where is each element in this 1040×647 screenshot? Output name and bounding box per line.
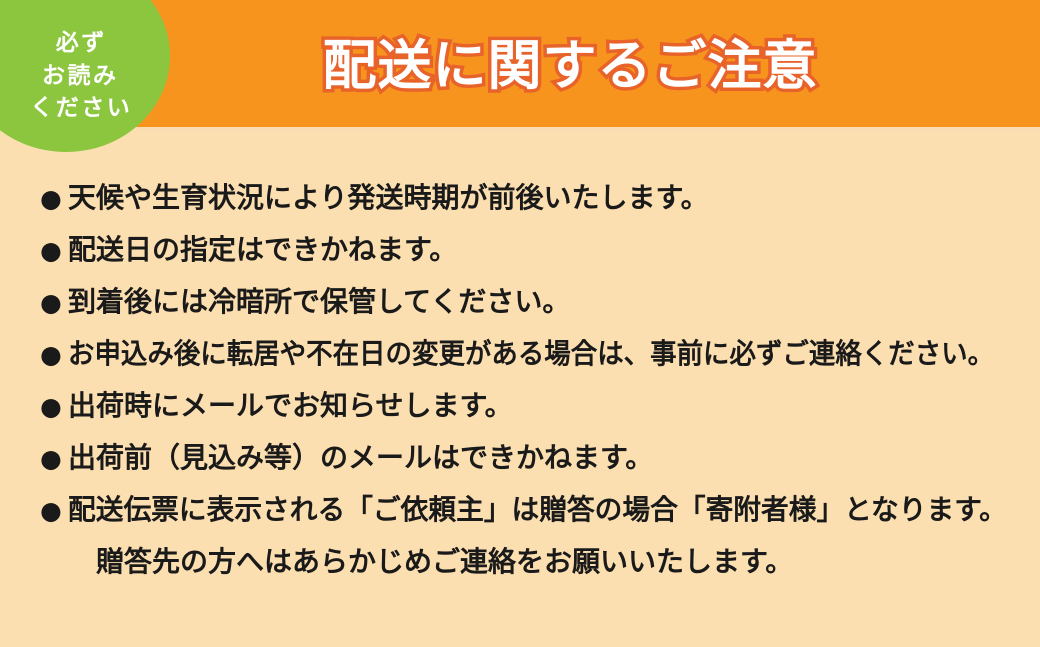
- badge-line-1: 必ず: [53, 27, 107, 60]
- bullet-icon: ●: [40, 225, 68, 277]
- notice-item: ●天候や生育状況により発送時期が前後いたします。: [40, 172, 1020, 224]
- bullet-icon: ●: [40, 173, 68, 225]
- bullet-icon: ●: [40, 381, 68, 433]
- notice-text: 配送日の指定はできかねます。: [68, 224, 457, 276]
- notice-item: ●お申込み後に転居や不在日の変更がある場合は、事前に必ずご連絡ください。: [40, 328, 1020, 380]
- notice-item: ●配送伝票に表示される「ご依頼主」は贈答の場合「寄附者様」となります。: [40, 484, 1020, 536]
- notice-item: ●到着後には冷暗所で保管してください。: [40, 276, 1020, 328]
- shipping-notice-banner: 配送に関するご注意 必ず お読み ください ●天候や生育状況により発送時期が前後…: [0, 0, 1040, 647]
- notice-item: ●配送日の指定はできかねます。: [40, 224, 1020, 276]
- notice-item: 贈答先の方へはあらかじめご連絡をお願いいたします。: [40, 536, 1020, 588]
- bullet-icon: ●: [40, 329, 68, 381]
- must-read-badge: 必ず お読み ください: [0, 0, 170, 152]
- notice-text: お申込み後に転居や不在日の変更がある場合は、事前に必ずご連絡ください。: [68, 328, 994, 380]
- notice-text: 配送伝票に表示される「ご依頼主」は贈答の場合「寄附者様」となります。: [68, 484, 1007, 536]
- bullet-icon: ●: [40, 485, 68, 537]
- notice-text: 天候や生育状況により発送時期が前後いたします。: [68, 172, 709, 224]
- notice-list: ●天候や生育状況により発送時期が前後いたします。●配送日の指定はできかねます。●…: [40, 172, 1020, 588]
- notice-item: ●出荷時にメールでお知らせします。: [40, 380, 1020, 432]
- notice-text: 出荷前（見込み等）のメールはできかねます。: [68, 432, 653, 484]
- notice-text: 出荷時にメールでお知らせします。: [68, 380, 513, 432]
- page-title: 配送に関するご注意: [175, 22, 965, 110]
- badge-line-2: お読み: [40, 60, 119, 93]
- notice-text: 贈答先の方へはあらかじめご連絡をお願いいたします。: [96, 536, 793, 588]
- bullet-icon: ●: [40, 277, 68, 329]
- notice-text: 到着後には冷暗所で保管してください。: [68, 276, 570, 328]
- bullet-icon: ●: [40, 433, 68, 485]
- must-read-badge-text: 必ず お読み ください: [0, 0, 170, 152]
- badge-line-3: ください: [28, 92, 133, 125]
- notice-item: ●出荷前（見込み等）のメールはできかねます。: [40, 432, 1020, 484]
